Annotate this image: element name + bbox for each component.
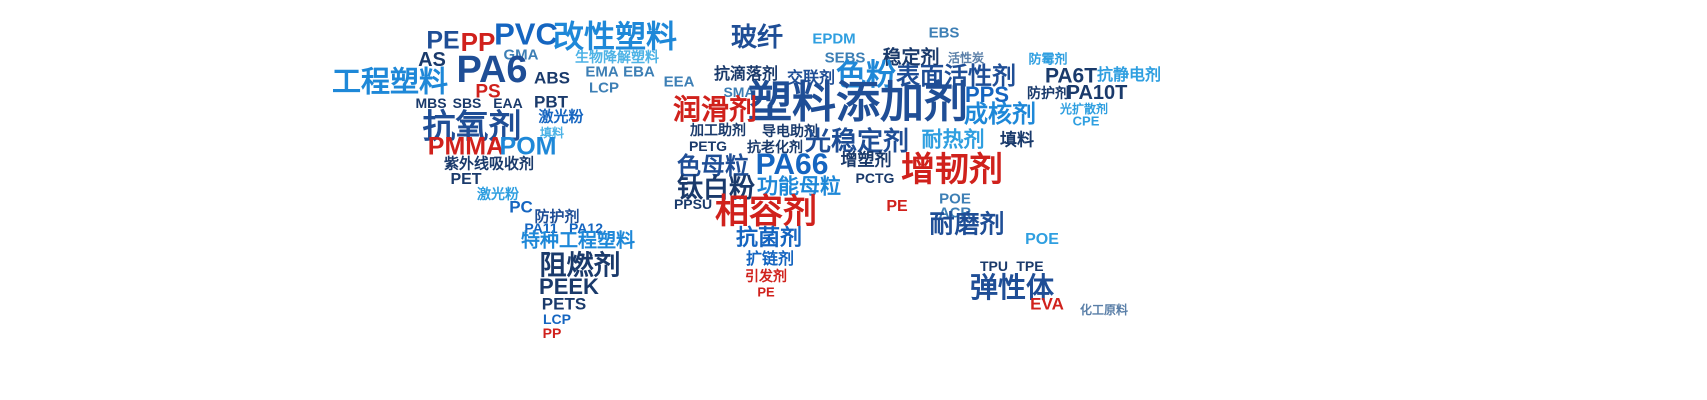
word-cloud-term[interactable]: 耐热剂 [922,130,985,151]
word-cloud-term[interactable]: PC [509,199,533,216]
word-cloud-term[interactable]: 玻纤 [731,25,783,51]
word-cloud-term[interactable]: 润滑剂 [673,96,757,124]
word-cloud: PEPPPVCGMA改性塑料玻纤EPDMEBSASPA6生物降解塑料SEBS稳定… [0,0,1707,400]
word-cloud-term[interactable]: 工程塑料 [332,68,448,97]
word-cloud-term[interactable]: PE [757,286,774,299]
word-cloud-term[interactable]: 相容剂 [715,195,817,229]
word-cloud-term[interactable]: 改性塑料 [553,23,677,54]
word-cloud-term[interactable]: 紫外线吸收剂 [444,157,534,172]
word-cloud-term[interactable]: PETG [689,139,727,153]
word-cloud-term[interactable]: PP [543,326,562,340]
word-cloud-term[interactable]: EMA [585,65,618,80]
word-cloud-term[interactable]: PE [886,199,907,215]
word-cloud-term[interactable]: PETS [542,296,586,313]
word-cloud-term[interactable]: 引发剂 [745,270,787,284]
word-cloud-term[interactable]: 塑料添加剂 [748,81,968,125]
word-cloud-term[interactable]: 增韧剂 [901,153,1003,187]
word-cloud-term[interactable]: PPSU [674,197,712,211]
word-cloud-term[interactable]: 加工助剂 [690,124,746,138]
word-cloud-term[interactable]: 化工原料 [1080,304,1128,316]
word-cloud-term[interactable]: 防护剂 [1027,87,1069,101]
word-cloud-term[interactable]: 抗静电剂 [1097,67,1161,83]
word-cloud-term[interactable]: 扩链剂 [746,251,794,267]
word-cloud-term[interactable]: EEA [664,75,695,90]
word-cloud-term[interactable]: EBA [623,65,655,80]
word-cloud-term[interactable]: LCP [589,81,619,96]
word-cloud-term[interactable]: EVA [1030,296,1064,313]
word-cloud-term[interactable]: 耐磨剂 [929,212,1004,237]
word-cloud-term[interactable]: 增塑剂 [841,153,892,170]
word-cloud-term[interactable]: 特种工程塑料 [521,232,635,251]
word-cloud-term[interactable]: CPE [1073,115,1100,128]
word-cloud-term[interactable]: 抗菌剂 [736,228,802,250]
word-cloud-term[interactable]: PA10T [1067,83,1128,103]
word-cloud-term[interactable]: PET [450,172,481,188]
word-cloud-term[interactable]: PVC [494,19,558,50]
word-cloud-term[interactable]: ABS [534,70,570,87]
word-cloud-term[interactable]: PCTG [856,171,895,185]
word-cloud-term[interactable]: 填料 [1000,133,1034,150]
word-cloud-term[interactable]: 成核剂 [964,102,1036,126]
word-cloud-term[interactable]: 激光粉 [538,110,583,125]
word-cloud-term[interactable]: LCP [543,312,571,326]
word-cloud-term[interactable]: EPDM [812,32,855,47]
word-cloud-term[interactable]: EBS [929,26,960,41]
word-cloud-term[interactable]: POE [1025,232,1059,248]
